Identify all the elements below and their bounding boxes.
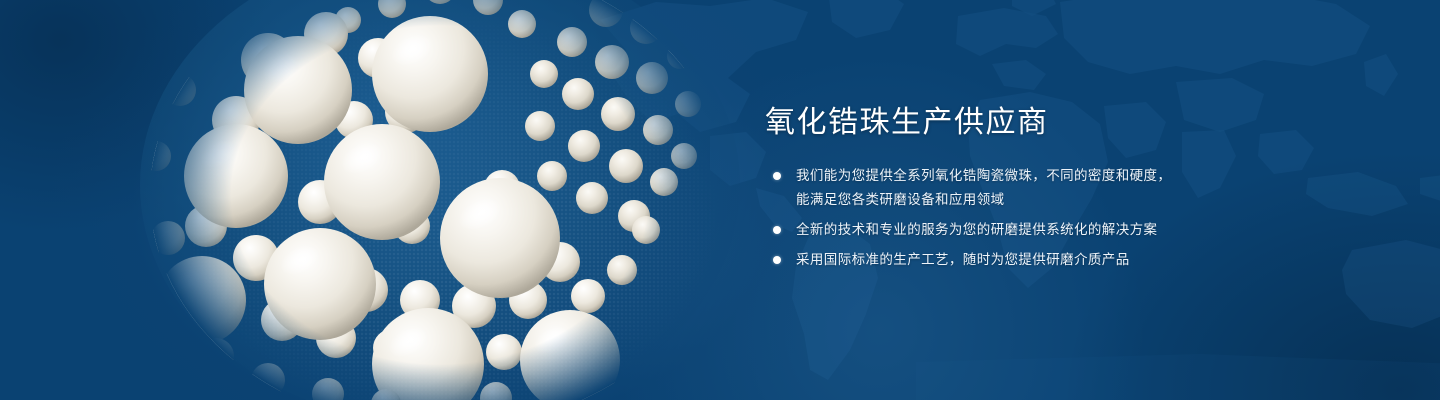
bullet-text: 我们能为您提供全系列氧化锆陶瓷微珠，不同的密度和硬度， 能满足您各类研磨设备和应… [796,164,1325,212]
bullet-dot-icon [773,172,781,180]
page-title: 氧化锆珠生产供应商 [765,104,1325,142]
feature-bullet-list: 我们能为您提供全系列氧化锆陶瓷微珠，不同的密度和硬度， 能满足您各类研磨设备和应… [765,164,1325,272]
bullet-text: 采用国际标准的生产工艺，随时为您提供研磨介质产品 [796,248,1325,272]
list-item: 采用国际标准的生产工艺，随时为您提供研磨介质产品 [765,248,1325,272]
list-item: 全新的技术和专业的服务为您的研磨提供系统化的解决方案 [765,218,1325,242]
banner-copy-block: 氧化锆珠生产供应商 我们能为您提供全系列氧化锆陶瓷微珠，不同的密度和硬度， 能满… [765,104,1325,272]
bullet-dot-icon [773,256,781,264]
bullet-text: 全新的技术和专业的服务为您的研磨提供系统化的解决方案 [796,218,1325,242]
list-item: 我们能为您提供全系列氧化锆陶瓷微珠，不同的密度和硬度， 能满足您各类研磨设备和应… [765,164,1325,212]
bullet-line-2: 能满足您各类研磨设备和应用领域 [796,188,1325,212]
bullet-line-1: 采用国际标准的生产工艺，随时为您提供研磨介质产品 [796,252,1130,267]
hero-banner: 氧化锆珠生产供应商 我们能为您提供全系列氧化锆陶瓷微珠，不同的密度和硬度， 能满… [0,0,1440,400]
bullet-line-1: 全新的技术和专业的服务为您的研磨提供系统化的解决方案 [796,222,1157,237]
bullet-dot-icon [773,226,781,234]
bullet-line-1: 我们能为您提供全系列氧化锆陶瓷微珠，不同的密度和硬度， [796,168,1171,183]
